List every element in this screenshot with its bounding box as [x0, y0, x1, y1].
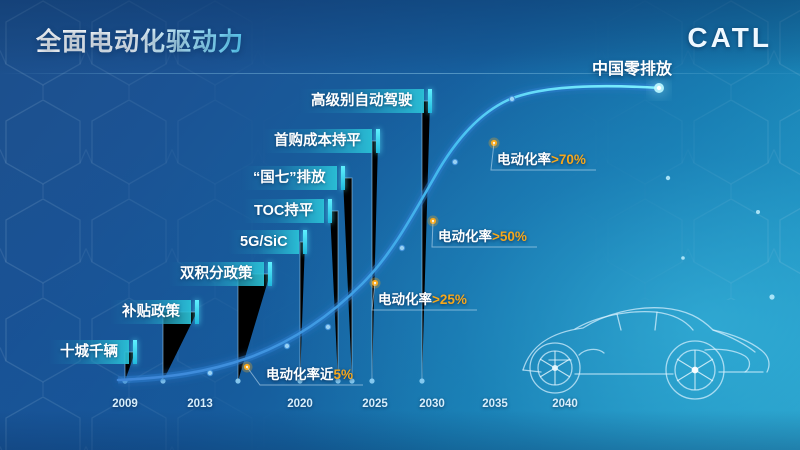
milestone-pill[interactable]: 首购成本持平 — [262, 129, 372, 153]
milestone-accent-bar — [268, 262, 272, 286]
ev-rate-annotation-value: >25% — [432, 292, 467, 307]
milestone-accent-bar — [376, 129, 380, 153]
milestone-accent-bar — [195, 300, 199, 324]
year-tick-label: 2035 — [482, 398, 508, 410]
milestone-pill[interactable]: TOC持平 — [242, 199, 324, 223]
year-tick-label: 2025 — [362, 398, 388, 410]
year-tick-label: 2020 — [287, 398, 313, 410]
page-title: 全面电动化驱动力 — [36, 22, 244, 58]
end-goal-label: 中国零排放 — [592, 55, 672, 79]
milestone-accent-bar — [341, 166, 345, 190]
year-tick-label: 2009 — [112, 398, 138, 410]
milestone-pill-label: TOC持平 — [254, 203, 313, 219]
hexagon-pattern — [0, 0, 800, 450]
ev-rate-annotation-value: >50% — [492, 229, 527, 244]
milestone-pill-label: 补贴政策 — [122, 304, 180, 320]
milestone-pill[interactable]: 双积分政策 — [168, 262, 264, 286]
ev-rate-annotation: 电动化率>50% — [438, 225, 527, 245]
milestone-pill-label: 十城千辆 — [60, 344, 118, 360]
year-tick-label: 2030 — [419, 398, 445, 410]
milestone-accent-bar — [428, 89, 432, 113]
ev-rate-annotation-prefix: 电动化率近 — [266, 367, 334, 382]
milestone-pill-label: 首购成本持平 — [274, 133, 361, 149]
milestone-accent-bar — [328, 199, 332, 223]
milestone-pill-label: 双积分政策 — [180, 266, 253, 282]
ev-rate-annotation: 电动化率>70% — [497, 148, 586, 168]
car-silhouette-icon — [505, 292, 795, 402]
milestone-pill-label: 高级别自动驾驶 — [311, 93, 413, 109]
year-tick-label: 2040 — [552, 398, 578, 410]
ev-rate-annotation: 电动化率>25% — [378, 288, 467, 308]
ev-rate-annotation-prefix: 电动化率 — [497, 152, 551, 167]
slide-root: 全面电动化驱动力 CATL 中国零排放 十城千辆补贴政策双积分政策5G/SiCT… — [0, 0, 800, 450]
milestone-pill[interactable]: 高级别自动驾驶 — [299, 89, 424, 113]
ev-rate-annotation-value: 5% — [334, 367, 354, 382]
milestone-pill[interactable]: “国七”排放 — [241, 166, 337, 190]
ev-rate-annotation-value: >70% — [551, 152, 586, 167]
milestone-pill[interactable]: 补贴政策 — [110, 300, 191, 324]
year-tick-label: 2013 — [187, 398, 213, 410]
footer-sheen — [0, 410, 800, 450]
milestone-accent-bar — [133, 340, 137, 364]
ev-rate-annotation: 电动化率近5% — [266, 363, 353, 383]
milestone-pill[interactable]: 十城千辆 — [48, 340, 129, 364]
catl-logo: CATL — [687, 22, 772, 54]
growth-curve-chart — [0, 0, 800, 450]
ev-rate-annotation-prefix: 电动化率 — [378, 292, 432, 307]
ev-rate-annotation-prefix: 电动化率 — [438, 229, 492, 244]
milestone-accent-bar — [303, 230, 307, 254]
milestone-pill-label: 5G/SiC — [240, 234, 288, 250]
header-divider — [0, 73, 800, 74]
milestone-pill[interactable]: 5G/SiC — [228, 230, 299, 254]
milestone-pill-label: “国七”排放 — [253, 170, 326, 186]
